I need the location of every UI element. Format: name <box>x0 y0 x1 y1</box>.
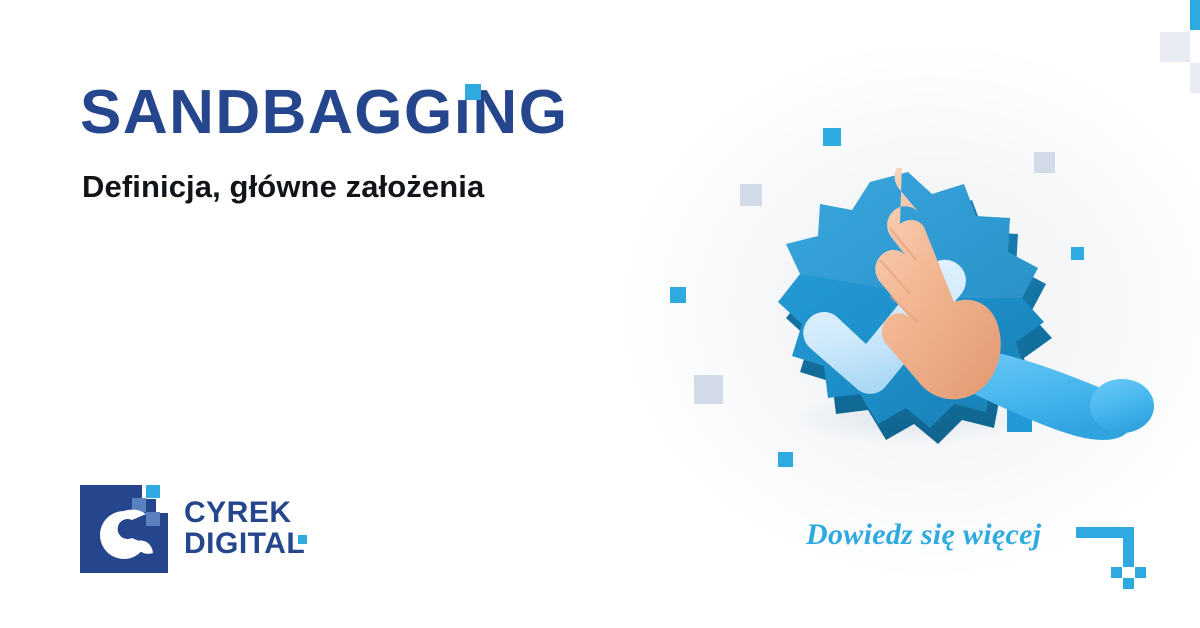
i-dot-square <box>465 84 481 100</box>
corner-block-group <box>1110 0 1200 95</box>
page-title-prefix: SANDBAGG <box>80 78 454 147</box>
square-corner-blue <box>1190 0 1200 30</box>
logo-square-bright <box>146 485 160 498</box>
logo-line-2: DIGITAL <box>184 529 305 560</box>
page-subtitle: Definicja, główne założenia <box>82 170 484 204</box>
logo-wordmark: CYREK DIGITAL <box>184 498 305 559</box>
logo-mark-icon <box>80 485 168 573</box>
logo-accent-square <box>298 535 307 544</box>
cta-label[interactable]: Dowiedz się więcej <box>806 518 1041 552</box>
share-card-canvas: SANDBAGGıNG Definicja, główne założenia … <box>0 0 1200 628</box>
cyrek-digital-logo[interactable]: CYREK DIGITAL <box>80 485 305 573</box>
logo-square-mid-2 <box>146 512 160 526</box>
corner-arrow-down-icon[interactable] <box>1076 527 1176 591</box>
page-title: SANDBAGGıNG <box>80 82 568 144</box>
square-corner-gray-1 <box>1160 32 1190 62</box>
square-blue-top <box>823 128 841 146</box>
page-title-dotless-i: ı <box>454 82 473 144</box>
page-title-suffix: NG <box>472 78 568 147</box>
square-blue-bottom <box>778 452 793 467</box>
square-corner-gray-2 <box>1190 63 1200 93</box>
logo-line-1: CYREK <box>184 498 305 529</box>
square-blue-left <box>670 287 686 303</box>
badge-check-hand-illustration <box>740 168 1160 448</box>
square-lavender-lower-l <box>694 375 723 404</box>
